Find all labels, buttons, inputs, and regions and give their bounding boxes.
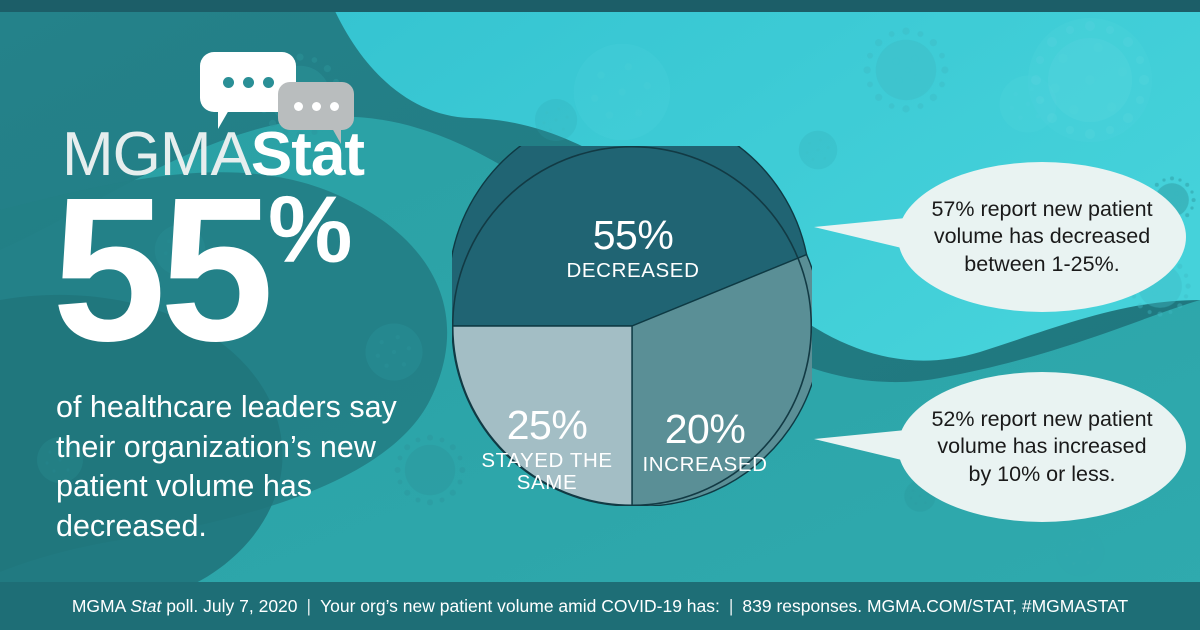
- callout-increased: 52% report new patient volume has increa…: [898, 372, 1186, 522]
- callout-decreased: 57% report new patient volume has decrea…: [898, 162, 1186, 312]
- footer-separator-2: |: [729, 596, 734, 617]
- speech-bubble-small-tail-icon: [332, 128, 341, 144]
- footer-responses: 839 responses. MGMA.COM/STAT, #MGMASTAT: [742, 596, 1128, 617]
- pie-chart: 55% DECREASED 25% STAYED THE SAME 20% IN…: [452, 146, 812, 506]
- pie-label-stayed-same: 25% STAYED THE SAME: [462, 404, 632, 493]
- pie-label-decreased-value: 55%: [508, 214, 758, 257]
- speech-bubble-large-tail-icon: [218, 110, 229, 129]
- callout-decreased-pointer-icon: [814, 218, 906, 249]
- footer-source: MGMA Stat poll. July 7, 2020: [72, 596, 298, 617]
- footer-separator-1: |: [307, 596, 312, 617]
- pie-label-stayed-same-value: 25%: [462, 404, 632, 447]
- footer-source-prefix: MGMA: [72, 596, 130, 616]
- top-accent-bar: [0, 0, 1200, 12]
- headline-statistic: 55%: [52, 186, 351, 354]
- footer-question: Your org’s new patient volume amid COVID…: [320, 596, 720, 617]
- pie-label-increased-value: 20%: [620, 408, 790, 451]
- headline-percent-sign: %: [268, 177, 350, 283]
- callout-decreased-bubble: 57% report new patient volume has decrea…: [898, 162, 1186, 312]
- speech-bubble-small-icon: [278, 82, 354, 130]
- pie-label-increased: 20% INCREASED: [620, 408, 790, 476]
- pie-label-stayed-same-name: STAYED THE SAME: [462, 450, 632, 493]
- callout-increased-text: 52% report new patient volume has increa…: [928, 406, 1156, 489]
- footer-source-italic: Stat: [130, 596, 161, 616]
- footer-bar: MGMA Stat poll. July 7, 2020 | Your org’…: [0, 582, 1200, 630]
- callout-increased-bubble: 52% report new patient volume has increa…: [898, 372, 1186, 522]
- footer-source-suffix: poll. July 7, 2020: [161, 596, 297, 616]
- pie-label-decreased: 55% DECREASED: [508, 214, 758, 282]
- pie-label-decreased-name: DECREASED: [508, 260, 758, 282]
- headline-body-text: of healthcare leaders say their organiza…: [56, 388, 446, 547]
- infographic-canvas: MGMAStat 55% of healthcare leaders say t…: [0, 0, 1200, 630]
- callout-increased-pointer-icon: [814, 430, 906, 461]
- pie-label-increased-name: INCREASED: [620, 454, 790, 476]
- logo-bubbles: [182, 52, 412, 120]
- callout-decreased-text: 57% report new patient volume has decrea…: [923, 196, 1161, 279]
- headline-number: 55: [52, 155, 268, 384]
